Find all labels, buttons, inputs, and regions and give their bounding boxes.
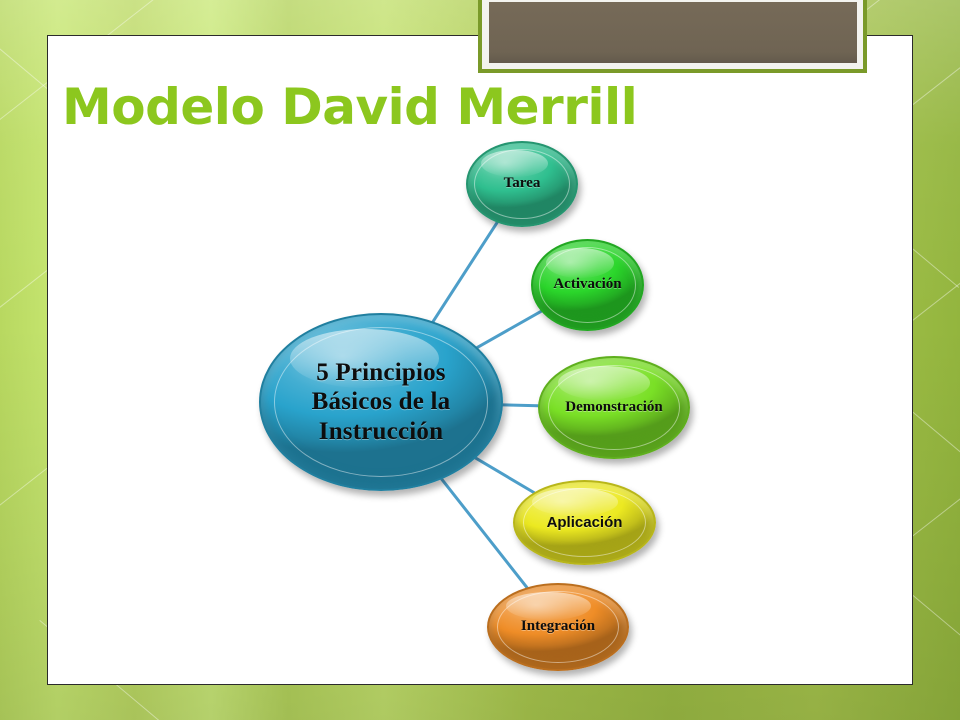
node-integracin[interactable]: Integración	[487, 583, 629, 671]
connector-to-tarea	[433, 223, 497, 322]
node-aplicacin[interactable]: Aplicación	[513, 480, 656, 565]
node-label: Integración	[521, 618, 595, 636]
center-node-label: 5 PrincipiosBásicos de laInstrucción	[312, 358, 451, 447]
node-label: Activación	[553, 276, 621, 294]
node-demonstracin[interactable]: Demonstración	[538, 356, 690, 459]
connector-to-activacin	[477, 311, 541, 347]
node-label: Aplicación	[547, 514, 623, 532]
connector-to-integracin	[442, 479, 527, 587]
node-tarea[interactable]: Tarea	[466, 141, 578, 227]
node-label: Tarea	[504, 175, 541, 193]
mind-map-diagram: 5 PrincipiosBásicos de laInstrucciónTare…	[47, 35, 913, 685]
connector-to-demonstracin	[503, 405, 538, 406]
node-label: Demonstración	[565, 399, 663, 417]
connector-to-aplicacin	[476, 458, 534, 492]
center-node-principios[interactable]: 5 PrincipiosBásicos de laInstrucción	[259, 313, 503, 491]
node-activacin[interactable]: Activación	[531, 239, 644, 331]
slide: Modelo David Merrill 5 PrincipiosBásicos…	[0, 0, 960, 720]
